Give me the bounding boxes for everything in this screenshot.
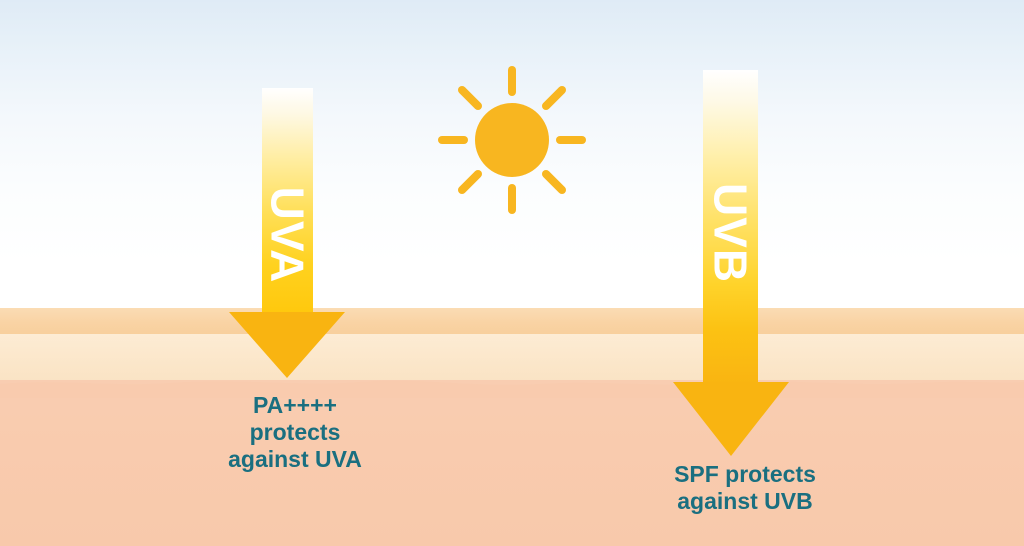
- uva-arrow-label: UVA: [265, 163, 311, 308]
- uvb-arrow-label: UVB: [708, 161, 754, 306]
- uvb-protection-caption: SPF protects against UVB: [605, 461, 885, 515]
- skin-layer-boundary-wave: [0, 368, 1024, 398]
- skin-surface-layer: [0, 308, 1024, 335]
- uv-protection-diagram: UVA UVB PA++++ protects against UVA SPF …: [0, 0, 1024, 546]
- sun-icon: [434, 62, 590, 218]
- uva-protection-caption: PA++++ protects against UVA: [170, 392, 420, 473]
